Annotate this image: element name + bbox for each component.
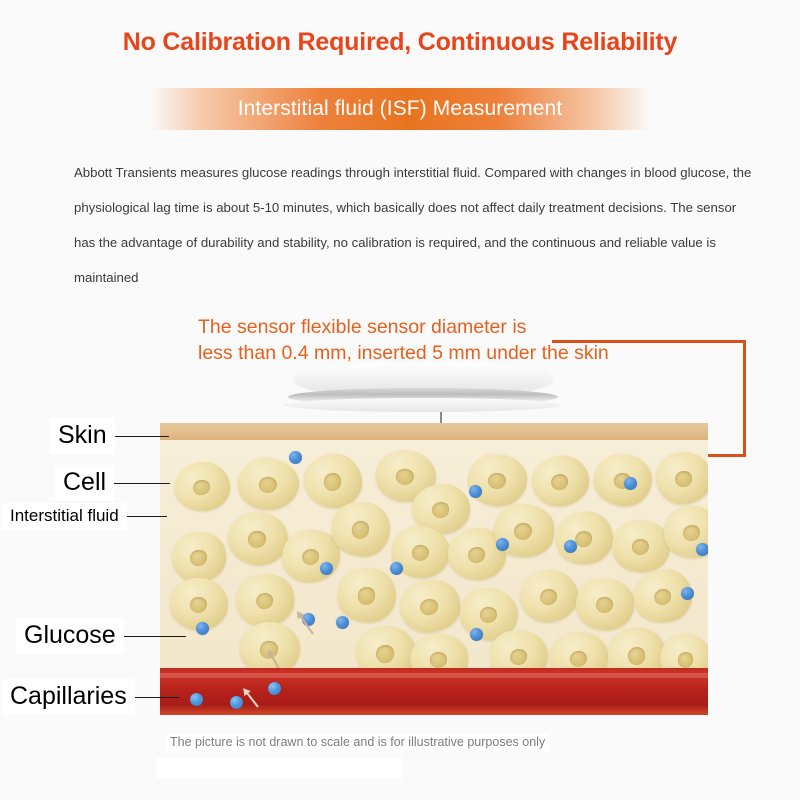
tissue-cell — [171, 531, 228, 584]
tissue-cell — [235, 455, 301, 513]
glucose-molecule — [336, 616, 349, 629]
tissue-cell — [517, 567, 580, 625]
tissue-cell — [553, 508, 617, 567]
callout-glucose: Glucose — [16, 618, 186, 654]
tissue-cell — [354, 623, 418, 668]
interstitial-fluid-layer — [160, 440, 708, 668]
glucose-molecule — [196, 622, 209, 635]
glucose-molecule — [696, 543, 708, 556]
callout-cell: Cell — [55, 465, 170, 501]
sensor-puck-base — [284, 398, 562, 412]
label-cell: Cell — [55, 465, 114, 501]
label-capillaries: Capillaries — [2, 679, 135, 715]
tissue-cell — [237, 619, 302, 668]
tissue-cell — [398, 577, 462, 634]
glucose-molecule — [564, 540, 577, 553]
glucose-molecule — [320, 562, 333, 575]
tissue-cell — [591, 451, 655, 510]
tissue-cell — [171, 458, 233, 514]
tissue-cell — [226, 509, 290, 567]
tissue-cell — [574, 576, 635, 632]
diagram-caption: The picture is not drawn to scale and is… — [166, 733, 549, 751]
skin-layer — [160, 423, 708, 440]
callout-capillaries: Capillaries — [2, 679, 179, 715]
callout-bracket-top-line — [552, 340, 746, 343]
callout-skin: Skin — [50, 418, 169, 454]
leader-line-skin — [115, 436, 169, 437]
capillary-highlight — [160, 673, 708, 678]
bottom-white-strip — [157, 757, 402, 779]
glucose-molecule — [496, 538, 509, 551]
tissue-cell — [654, 450, 708, 507]
sensor-device-graphic — [284, 362, 562, 420]
capillary-layer — [160, 668, 708, 715]
label-interstitial-fluid: Interstitial fluid — [2, 503, 127, 530]
callout-interstitial-fluid: Interstitial fluid — [2, 503, 167, 530]
glucose-molecule — [390, 562, 403, 575]
section-banner-label: Interstitial fluid (ISF) Measurement — [238, 97, 563, 121]
label-skin: Skin — [50, 418, 115, 454]
tissue-cross-section — [160, 423, 708, 715]
glucose-molecule — [230, 696, 243, 709]
tissue-cell — [548, 630, 610, 668]
glucose-molecule — [470, 628, 483, 641]
page-title: No Calibration Required, Continuous Reli… — [0, 28, 800, 57]
infographic-page: No Calibration Required, Continuous Reli… — [0, 0, 800, 800]
glucose-molecule — [624, 477, 637, 490]
tissue-cell — [466, 452, 528, 508]
glucose-molecule — [289, 451, 302, 464]
leader-line-interstitial-fluid — [127, 516, 167, 517]
tissue-cell — [407, 631, 471, 668]
leader-line-glucose — [124, 636, 186, 637]
body-paragraph-block: Abbott Transients measures glucose readi… — [74, 155, 752, 295]
leader-line-cell — [114, 483, 170, 484]
tissue-cell — [658, 632, 708, 668]
tissue-cell — [233, 571, 297, 630]
leader-line-capillaries — [135, 697, 179, 698]
glucose-molecule — [190, 693, 203, 706]
section-banner: Interstitial fluid (ISF) Measurement — [150, 88, 650, 130]
body-paragraph: Abbott Transients measures glucose readi… — [74, 155, 752, 295]
label-glucose: Glucose — [16, 618, 124, 654]
glucose-molecule — [268, 682, 281, 695]
tissue-cell — [528, 452, 592, 510]
callout-bracket-right-line — [743, 340, 746, 457]
diffusion-arrow — [244, 689, 259, 708]
glucose-molecule — [681, 587, 694, 600]
glucose-molecule — [469, 485, 482, 498]
